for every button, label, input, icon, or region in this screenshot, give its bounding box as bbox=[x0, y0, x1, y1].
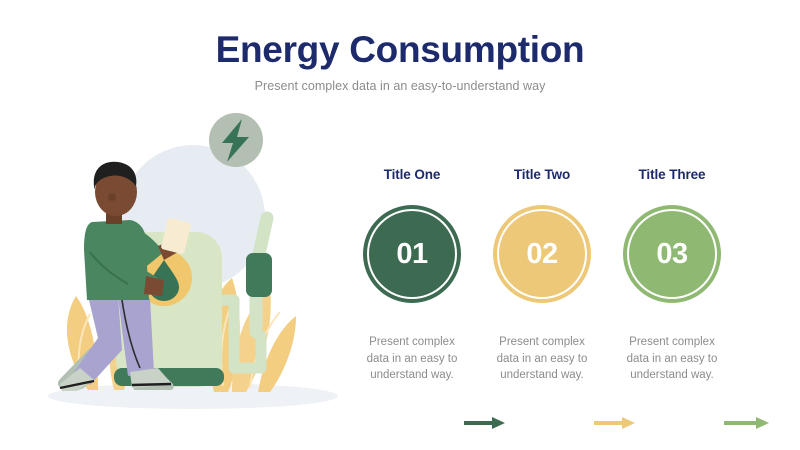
page-title: Energy Consumption bbox=[0, 28, 800, 72]
step-description-3: Present complex data in an easy to under… bbox=[600, 334, 744, 384]
slide-canvas: Energy Consumption Present complex data … bbox=[0, 0, 800, 450]
header: Energy Consumption Present complex data … bbox=[0, 28, 800, 95]
step-description-1: Present complex data in an easy to under… bbox=[340, 334, 484, 384]
page-subtitle: Present complex data in an easy-to-under… bbox=[0, 77, 800, 95]
step-circle-1[interactable]: 01 bbox=[363, 205, 461, 303]
step-circle-3[interactable]: 03 bbox=[623, 205, 721, 303]
arrow-connector-3 bbox=[724, 417, 772, 429]
step-item-1[interactable]: Title One 01 Present complex data in an … bbox=[340, 165, 484, 384]
step-title-3: Title Three bbox=[600, 165, 744, 185]
step-circle-wrap-3: 03 bbox=[600, 205, 744, 309]
energy-illustration bbox=[18, 100, 348, 420]
step-circle-wrap-2: 02 bbox=[470, 205, 614, 309]
arrow-connector-1 bbox=[464, 417, 506, 429]
step-circle-2[interactable]: 02 bbox=[493, 205, 591, 303]
step-title-1: Title One bbox=[340, 165, 484, 185]
step-number-3: 03 bbox=[656, 238, 687, 271]
lightning-badge bbox=[209, 113, 263, 167]
step-title-2: Title Two bbox=[470, 165, 614, 185]
step-item-3[interactable]: Title Three 03 Present complex data in a… bbox=[600, 165, 744, 384]
steps-container: Title One 01 Present complex data in an … bbox=[340, 165, 790, 400]
step-item-2[interactable]: Title Two 02 Present complex data in an … bbox=[470, 165, 614, 384]
arrow-connector-2 bbox=[594, 417, 636, 429]
step-number-1: 01 bbox=[396, 238, 427, 271]
step-number-2: 02 bbox=[526, 238, 557, 271]
step-circle-wrap-1: 01 bbox=[340, 205, 484, 309]
step-description-2: Present complex data in an easy to under… bbox=[470, 334, 614, 384]
